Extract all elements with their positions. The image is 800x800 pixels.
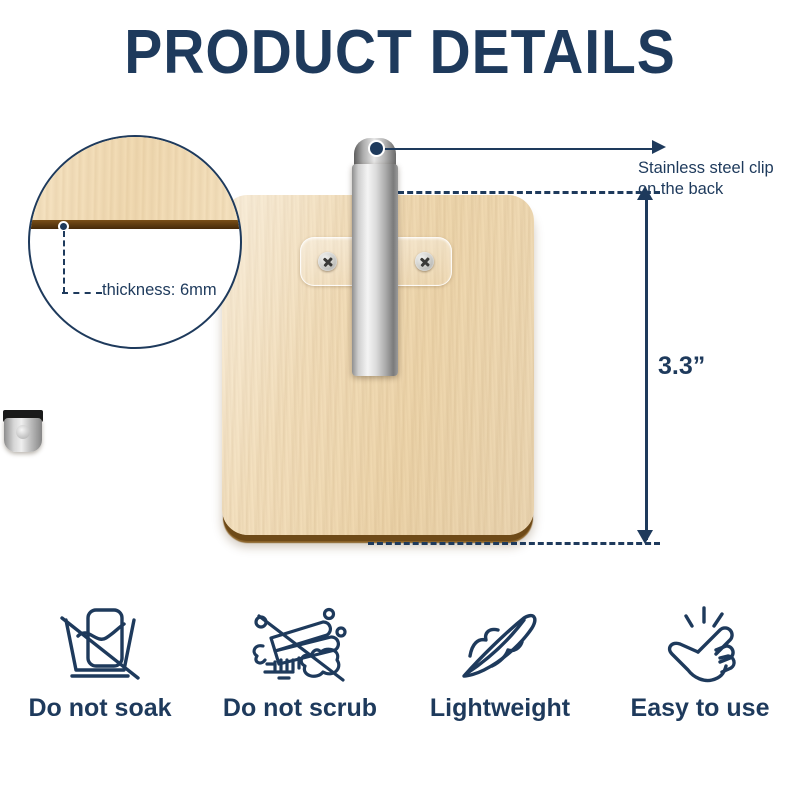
feature-item-lightweight: Lightweight [400, 600, 600, 760]
callout-arrow-icon [652, 140, 666, 154]
clip-foot-dimple [16, 425, 30, 439]
clip-body [352, 164, 398, 376]
dimension-arrow-down-icon [637, 530, 653, 544]
dimension-line [645, 194, 648, 540]
screw-icon [318, 252, 337, 271]
dimension-label: 3.3” [658, 352, 705, 381]
feature-label: Lightweight [430, 694, 570, 723]
callout-line [380, 148, 660, 150]
feature-item-do-not-soak: Do not soak [0, 600, 200, 760]
tap-hand-icon [652, 600, 748, 686]
callout-text-line-1: Stainless steel clip [638, 158, 800, 179]
dimension-extension-line-top [398, 191, 660, 194]
thickness-label: thickness: 6mm [102, 281, 217, 300]
feature-item-do-not-scrub: Do not scrub [200, 600, 400, 760]
page-title: PRODUCT DETAILS [32, 18, 768, 88]
feature-row: Do not soak Do not scrub [0, 600, 800, 760]
stainless-steel-clip [352, 138, 398, 398]
thickness-leader-horizontal [62, 292, 102, 294]
callout-text: Stainless steel clip on the back [638, 158, 800, 200]
feature-label: Do not soak [28, 694, 171, 723]
thickness-leader-vertical [63, 231, 65, 293]
thickness-detail-magnifier: thickness: 6mm [28, 135, 242, 349]
dimension-arrow-up-icon [637, 186, 653, 200]
screw-icon [415, 252, 434, 271]
no-soak-icon [52, 600, 148, 686]
magnified-wood-face [30, 137, 240, 220]
feature-label: Do not scrub [223, 694, 377, 723]
feature-item-easy-to-use: Easy to use [600, 600, 800, 760]
callout-text-line-2: on the back [638, 179, 800, 200]
product-illustration: thickness: 6mm Stainless steel clip on t… [0, 110, 800, 580]
clip-foot [4, 418, 42, 452]
feature-label: Easy to use [631, 694, 770, 723]
no-scrub-icon [245, 600, 355, 686]
callout-anchor-dot [368, 140, 385, 157]
dimension-extension-line-bottom [368, 542, 660, 545]
feather-icon [450, 600, 550, 686]
